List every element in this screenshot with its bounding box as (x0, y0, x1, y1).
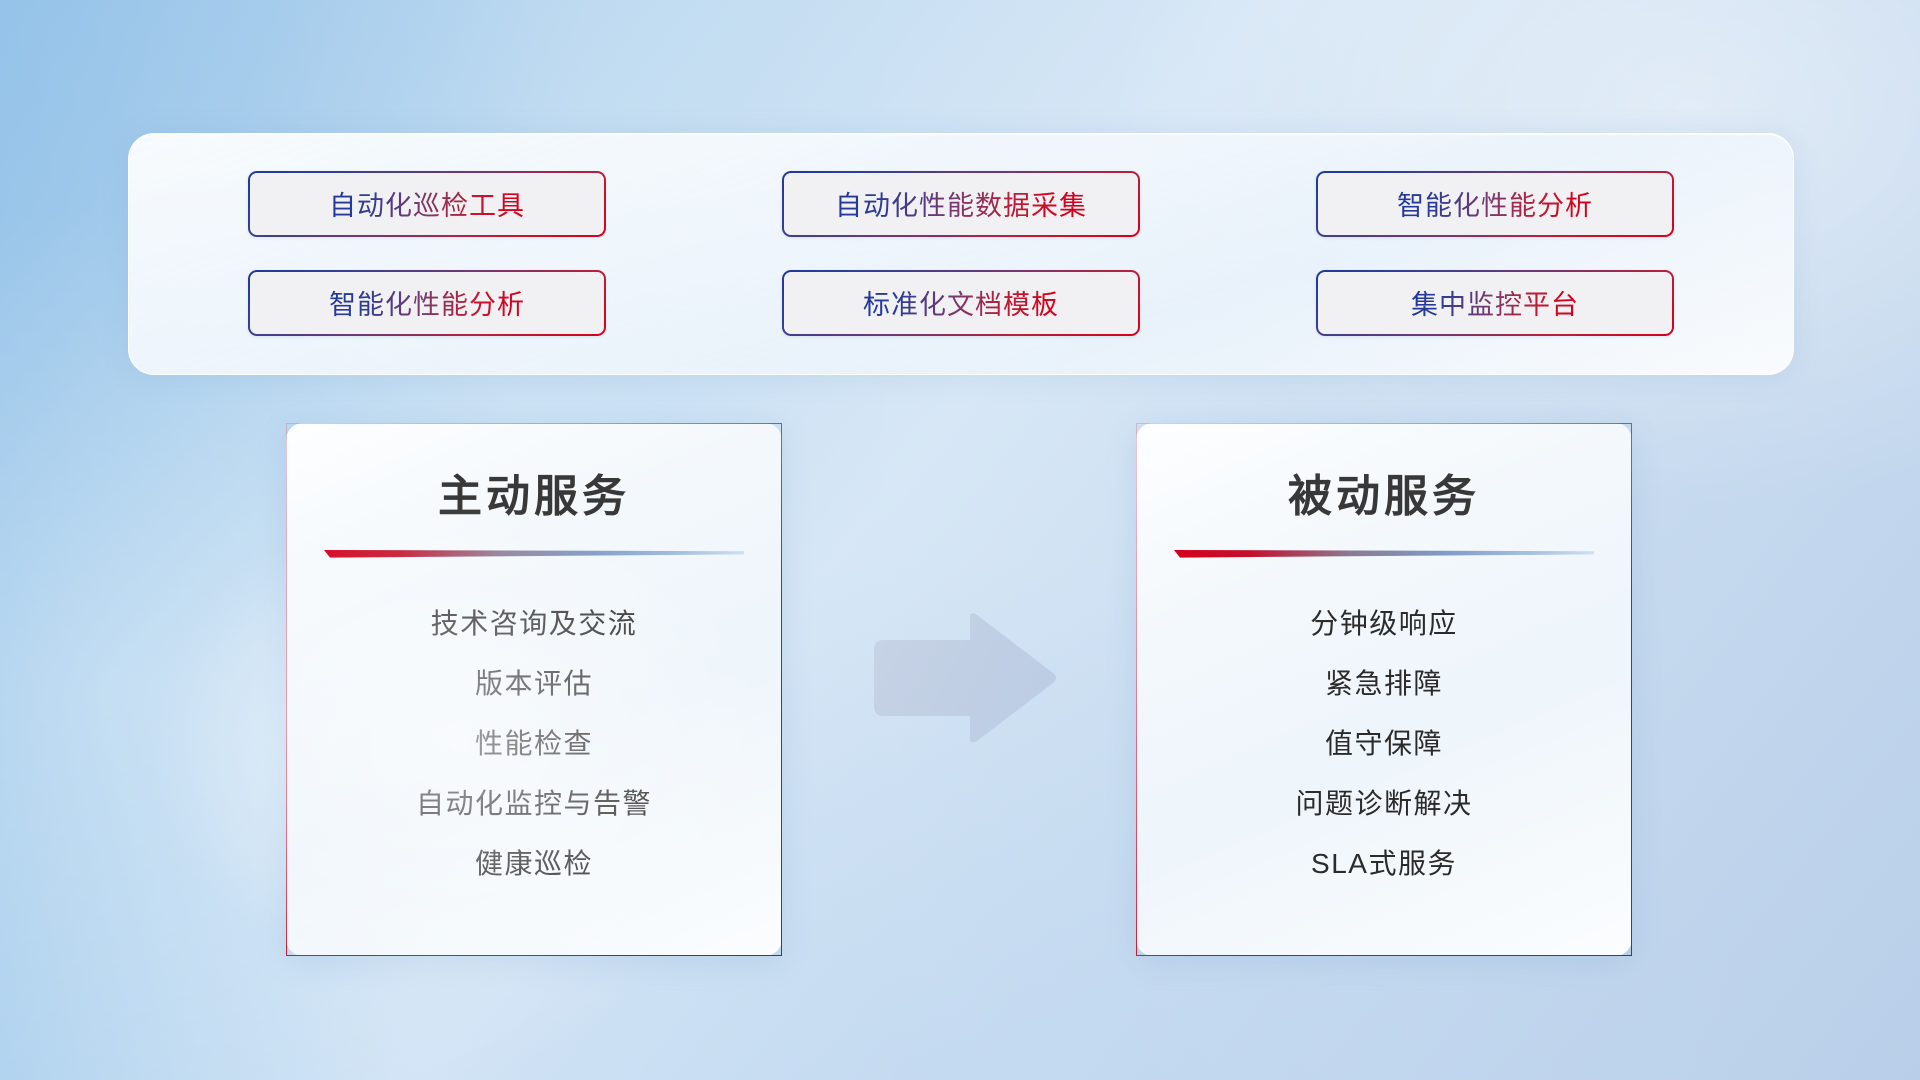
capability-pill[interactable]: 智能化性能分析 (248, 270, 606, 336)
capability-pill-inner: 标准化文档模板 (784, 272, 1138, 334)
card-list-item: 健康巡检 (287, 834, 781, 894)
card-title: 被动服务 (1137, 460, 1631, 524)
card-list-item: 值守保障 (1137, 714, 1631, 774)
card-item-list: 技术咨询及交流 版本评估 性能检查 自动化监控与告警 健康巡检 (287, 594, 781, 894)
card-item-list: 分钟级响应 紧急排障 值守保障 问题诊断解决 SLA式服务 (1137, 594, 1631, 894)
capability-pill-label: 自动化性能数据采集 (835, 184, 1087, 223)
capability-pill[interactable]: 自动化巡检工具 (248, 171, 606, 237)
capability-pill-inner: 智能化性能分析 (250, 272, 604, 334)
card-list-item: 分钟级响应 (1137, 594, 1631, 654)
card-list-item: SLA式服务 (1137, 834, 1631, 894)
capability-pill-inner: 智能化性能分析 (1318, 173, 1672, 235)
capability-pill-inner: 自动化巡检工具 (250, 173, 604, 235)
service-card-reactive: 被动服务 分钟级响应 紧急排障 值守保障 (1136, 423, 1632, 956)
gradient-divider (324, 548, 744, 560)
service-card-proactive: 主动服务 技术咨询及交流 版本评估 性能检查 (286, 423, 782, 956)
capability-pill-label: 集中监控平台 (1411, 283, 1579, 322)
capability-pill-inner: 自动化性能数据采集 (784, 173, 1138, 235)
capability-pill-label: 自动化巡检工具 (329, 184, 525, 223)
card-list-item: 自动化监控与告警 (287, 774, 781, 834)
card-list-item: 问题诊断解决 (1137, 774, 1631, 834)
capability-panel: 自动化巡检工具 自动化性能数据采集 智能化性能分析 智能化性能分析 标准化文档模… (128, 133, 1794, 375)
capability-pill[interactable]: 标准化文档模板 (782, 270, 1140, 336)
arrow-right-icon (866, 612, 1056, 742)
card-list-item: 版本评估 (287, 654, 781, 714)
card-list-item: 技术咨询及交流 (287, 594, 781, 654)
capability-pill-label: 智能化性能分析 (1397, 184, 1593, 223)
capability-pill[interactable]: 自动化性能数据采集 (782, 171, 1140, 237)
card-list-item: 性能检查 (287, 714, 781, 774)
slide-canvas: 自动化巡检工具 自动化性能数据采集 智能化性能分析 智能化性能分析 标准化文档模… (0, 0, 1920, 1080)
capability-pill[interactable]: 智能化性能分析 (1316, 171, 1674, 237)
capability-pill-inner: 集中监控平台 (1318, 272, 1672, 334)
capability-pill-label: 标准化文档模板 (863, 283, 1059, 322)
card-title: 主动服务 (287, 460, 781, 524)
gradient-divider (1174, 548, 1594, 560)
capability-pill[interactable]: 集中监控平台 (1316, 270, 1674, 336)
capability-pill-label: 智能化性能分析 (329, 283, 525, 322)
card-list-item: 紧急排障 (1137, 654, 1631, 714)
